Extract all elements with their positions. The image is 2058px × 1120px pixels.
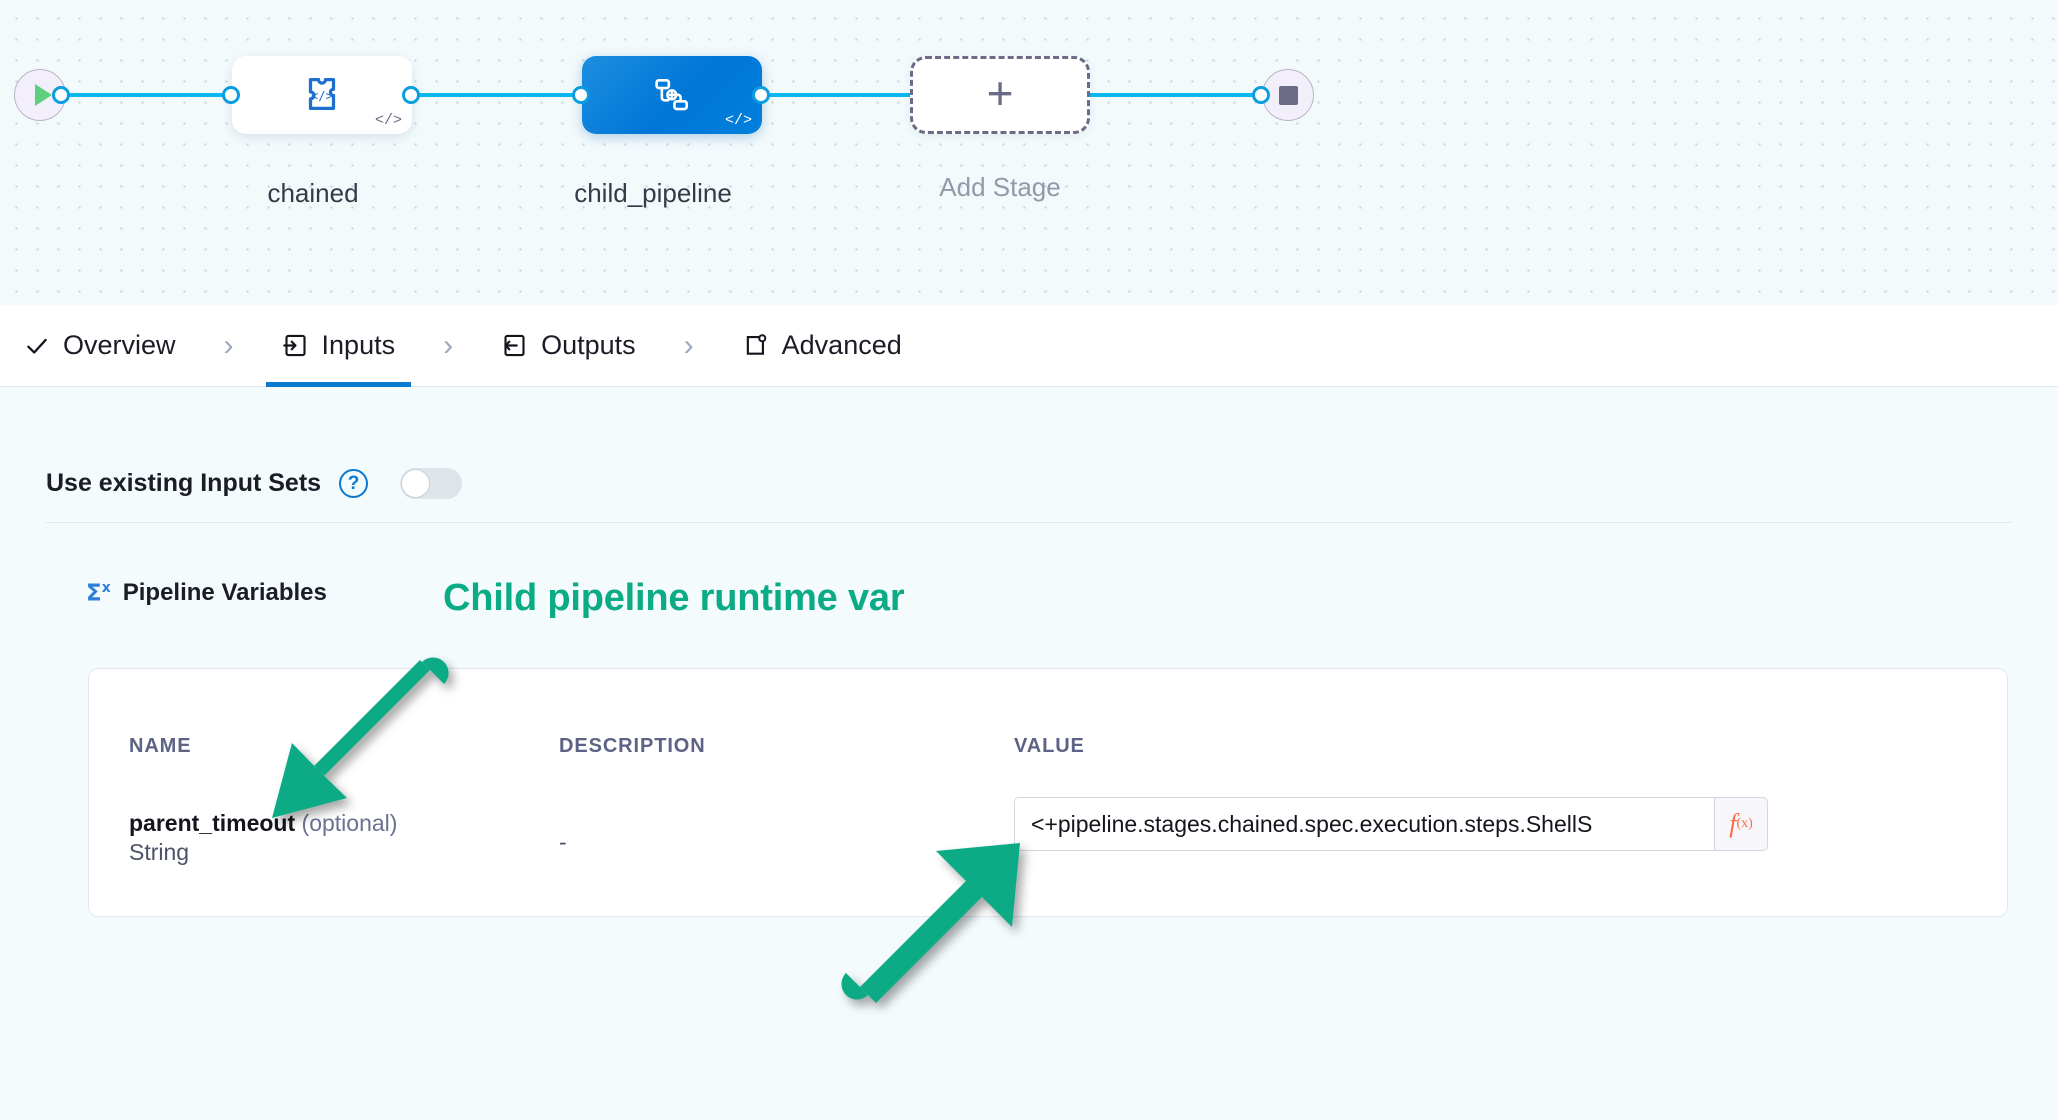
- port-start-out[interactable]: [52, 86, 70, 104]
- arrow-out-of-box-icon: [501, 332, 528, 359]
- custom-stage-code-icon: </>: [299, 72, 345, 118]
- use-existing-input-sets-row: Use existing Input Sets ?: [46, 468, 462, 499]
- svg-text:</>: </>: [311, 89, 333, 103]
- pipeline-chain-icon: [651, 74, 693, 116]
- table-row: parent_timeout (optional) String: [129, 809, 397, 868]
- annotation-child-runtime-var: Child pipeline runtime var: [443, 577, 904, 620]
- pipeline-variables-table: NAME DESCRIPTION VALUE parent_timeout (o…: [88, 668, 2008, 917]
- tab-label: Overview: [63, 330, 176, 361]
- variable-name: parent_timeout: [129, 810, 295, 836]
- port-end-in[interactable]: [1252, 86, 1270, 104]
- variable-value-cell: <+pipeline.stages.chained.spec.execution…: [1014, 797, 1768, 851]
- stage-node-child-pipeline[interactable]: </>: [582, 56, 762, 134]
- gear-box-icon: [742, 332, 769, 359]
- tab-overview[interactable]: Overview: [8, 305, 192, 387]
- stage-config-tabs[interactable]: Overview › Inputs › Outputs › Ad: [0, 305, 2058, 387]
- stage-label-add-stage: Add Stage: [850, 172, 1150, 203]
- tab-outputs[interactable]: Outputs: [485, 305, 652, 387]
- section-divider: [46, 522, 2012, 523]
- edge-addstage-to-end: [1090, 93, 1260, 97]
- fx-label: f: [1729, 809, 1736, 839]
- port-child-in[interactable]: [572, 86, 590, 104]
- use-existing-input-sets-label: Use existing Input Sets: [46, 469, 321, 498]
- pipeline-canvas[interactable]: </> </> chained </> child_pipeline + Add…: [0, 0, 2058, 305]
- arrow-into-box-icon: [282, 332, 309, 359]
- sigma-variables-icon: Σx: [86, 580, 111, 607]
- edge-chained-to-child: [410, 93, 580, 97]
- stop-icon: [1279, 86, 1298, 105]
- tab-inputs[interactable]: Inputs: [266, 305, 412, 387]
- column-header-name: NAME: [129, 735, 192, 758]
- edge-child-to-addstage: [760, 93, 910, 97]
- variable-type: String: [129, 838, 397, 867]
- tab-separator-3: ›: [652, 329, 726, 363]
- yaml-badge-icon: </>: [375, 113, 402, 128]
- port-chained-out[interactable]: [402, 86, 420, 104]
- play-icon: [35, 84, 52, 106]
- tab-separator-1: ›: [192, 329, 266, 363]
- column-header-description: DESCRIPTION: [559, 735, 706, 758]
- question-mark-icon[interactable]: ?: [339, 469, 368, 498]
- tab-separator-2: ›: [411, 329, 485, 363]
- pipeline-variables-title: Pipeline Variables: [123, 579, 327, 607]
- pipeline-variables-header: Σx Pipeline Variables: [86, 579, 327, 607]
- variable-value-input[interactable]: <+pipeline.stages.chained.spec.execution…: [1014, 797, 1714, 851]
- variable-description: -: [559, 829, 567, 856]
- expression-fx-button[interactable]: f(x): [1714, 797, 1768, 851]
- tab-label: Outputs: [541, 330, 636, 361]
- port-chained-in[interactable]: [222, 86, 240, 104]
- tab-advanced[interactable]: Advanced: [726, 305, 918, 387]
- column-header-value: VALUE: [1014, 735, 1085, 758]
- stage-label-child-pipeline: child_pipeline: [503, 178, 803, 209]
- check-icon: [24, 333, 50, 359]
- tab-label: Inputs: [322, 330, 396, 361]
- port-child-out[interactable]: [752, 86, 770, 104]
- plus-icon: +: [987, 70, 1014, 116]
- fx-sub: (x): [1736, 816, 1752, 832]
- yaml-badge-icon: </>: [725, 113, 752, 128]
- add-stage-node[interactable]: +: [910, 56, 1090, 134]
- tab-label: Advanced: [782, 330, 902, 361]
- variable-optional: (optional): [302, 810, 398, 836]
- inputs-panel: Use existing Input Sets ? Σx Pipeline Va…: [0, 387, 2058, 1120]
- stage-label-chained: chained: [163, 178, 463, 209]
- use-existing-input-sets-toggle[interactable]: [400, 468, 462, 499]
- toggle-knob: [401, 469, 430, 498]
- edge-start-to-chained: [60, 93, 230, 97]
- stage-node-chained[interactable]: </> </>: [232, 56, 412, 134]
